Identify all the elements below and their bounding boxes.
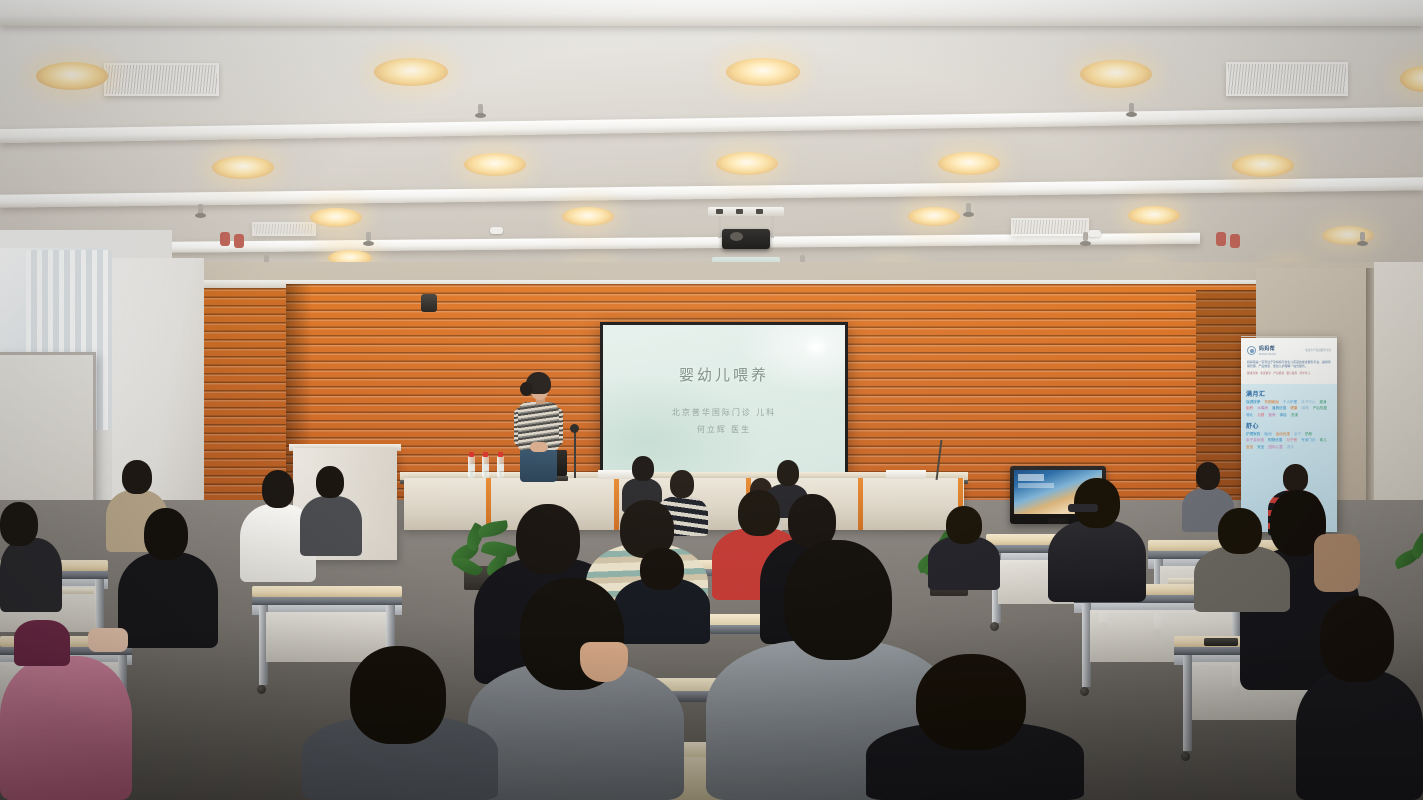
fire-sprinkler [198, 204, 203, 217]
banner-word: 亲子 [1294, 432, 1301, 436]
fire-sprinkler [366, 232, 371, 241]
hvac-vent [104, 63, 219, 96]
person-shoulder-scarf [1314, 534, 1360, 592]
wall-speaker [421, 294, 437, 312]
person-head [516, 504, 580, 574]
smoke-detector [1088, 230, 1101, 237]
banner-word: 产后恢复 [1313, 406, 1327, 410]
projector-bolt [756, 209, 763, 214]
person-body [1194, 546, 1290, 612]
track-spotlight [220, 228, 254, 246]
hvac-vent [1226, 62, 1348, 96]
banner-word-cloud: 保健按摩孕期瑜伽个人护理月子中心瘦身胎教水痗病道具优惠健康咖啡产后恢复哺乳月嫘营… [1246, 400, 1332, 417]
projection-screen: 婴幼儿喂养 北京普华国际门诊 儿科 何立辉 医生 [600, 322, 848, 476]
person-head [670, 470, 694, 498]
banner-word: 洗澡 [1291, 413, 1298, 417]
ceiling-downlight [908, 207, 960, 226]
person-body [300, 496, 362, 556]
banner-word: 月嫘 [1257, 413, 1264, 417]
desk-caster [257, 685, 266, 694]
banner-word-cloud: 护理家政胎动运动优惠亲子奶粉亲子游泳馆购物优惠月子餐专家门诊育儿宝宝安全国际儿童… [1246, 432, 1332, 449]
microphone-head [570, 424, 579, 433]
banner-word: 月子餐 [1286, 438, 1297, 442]
tablet-device [1204, 638, 1238, 646]
person-hands [580, 642, 628, 682]
banner-paragraph: 妈妈帮是一家专注于孕妈妈与新生儿家庭的健康服务平台，提供孕期管理、产后恢复、婴幼… [1247, 360, 1331, 369]
banner-header: 妈妈帮 MAMA BANG 专业孕产知识服务平台 妈妈帮是一家专注于孕妈妈与新生… [1241, 338, 1337, 384]
fire-sprinkler [1129, 103, 1134, 116]
fire-sprinkler [478, 104, 483, 117]
banner-word: 咖啡 [1302, 406, 1309, 410]
banner-word: 安全 [1257, 445, 1264, 449]
presenter-hair-bun [520, 382, 533, 396]
banner-word: 育儿 [1320, 438, 1327, 442]
person-head [316, 466, 344, 498]
person-head [0, 502, 38, 546]
person-head [350, 646, 446, 744]
person-shoulder [14, 620, 70, 666]
person-head [1218, 508, 1262, 554]
person-head [1074, 478, 1120, 528]
fire-sprinkler [1360, 232, 1365, 241]
ceiling-downlight [1080, 60, 1152, 88]
audience-member [1048, 478, 1146, 602]
banner-word: 月子中心 [1301, 400, 1315, 404]
person-head [122, 460, 152, 494]
banner-word: 道具优惠 [1272, 406, 1286, 410]
audience-member [1296, 596, 1423, 800]
banner-word: 运动优惠 [1276, 432, 1290, 436]
person-body [1048, 520, 1146, 602]
eyeglasses-icon [1068, 504, 1098, 512]
banner-word: 孕期瑜伽 [1264, 400, 1278, 404]
brand-logo-icon [1247, 346, 1256, 355]
audience-member [1194, 508, 1290, 612]
audience-member [468, 578, 684, 800]
person-head [1196, 462, 1220, 490]
projector-lens [730, 232, 743, 241]
audience-member [866, 654, 1084, 800]
projector-bolt [716, 209, 723, 214]
ceiling-downlight [562, 207, 614, 226]
water-bottle [497, 456, 504, 478]
ceiling-downlight [1232, 154, 1294, 177]
desk-caster [1181, 752, 1190, 761]
right-far-wall [1374, 262, 1423, 522]
person-head [1283, 464, 1308, 492]
projector-arm [771, 216, 774, 238]
banner-word: 营养 [1268, 413, 1275, 417]
ceiling-downlight [1400, 66, 1423, 92]
slide-subtitle-org: 北京普华国际门诊 儿科 [672, 407, 776, 418]
banner-word: 宝宝 [1246, 445, 1253, 449]
track-spotlight [1216, 228, 1250, 246]
ceiling-downlight [716, 152, 778, 175]
ceiling-downlight [726, 58, 800, 86]
banner-logo-block: 妈妈帮 MAMA BANG [1259, 345, 1277, 356]
audience-member [300, 466, 362, 556]
person-body [1296, 670, 1423, 800]
presenter-lower-body [520, 448, 557, 482]
banner-section: 舒心 护理家政胎动运动优惠亲子奶粉亲子游泳馆购物优惠月子餐专家门诊育儿宝宝安全国… [1246, 421, 1332, 449]
ceiling-beam [0, 177, 1423, 207]
projection-screen-surface: 婴幼儿喂养 北京普华国际门诊 儿科 何立辉 医生 [603, 325, 845, 473]
person-body [0, 656, 132, 800]
ceiling-beam [0, 107, 1423, 143]
audience-member [118, 508, 218, 648]
desk-caster [990, 622, 999, 631]
audience-member [0, 502, 62, 612]
banner-word: 护理家政 [1246, 432, 1260, 436]
projector-body [722, 229, 770, 249]
ceiling-downlight [212, 156, 274, 179]
hvac-vent [252, 222, 316, 236]
presenter-hands [530, 442, 548, 452]
banner-word: 国际儿童 [1268, 445, 1282, 449]
banner-word: 健康 [1290, 406, 1297, 410]
banner-section-title: 满月汇 [1246, 389, 1332, 398]
banner-word: 个人护理 [1283, 400, 1297, 404]
banner-word: 胎动 [1264, 432, 1271, 436]
person-hand [88, 628, 128, 652]
banner-word: 亲子游泳馆 [1246, 438, 1264, 442]
slide-title: 婴幼儿喂养 [679, 364, 769, 385]
banner-word: 购物优惠 [1268, 438, 1282, 442]
desk-top [252, 586, 402, 597]
person-body [118, 552, 218, 648]
ceiling [0, 0, 1423, 300]
person-head [262, 470, 294, 508]
audience-member [928, 506, 1000, 590]
monitor-badge [1018, 474, 1044, 481]
ceiling-downlight [938, 152, 1000, 175]
ceiling-downlight [374, 58, 448, 86]
desk-leg [1183, 655, 1192, 751]
banner-word: 游乐 [1287, 445, 1294, 449]
person-head [784, 540, 892, 660]
banner-section-title: 舒心 [1246, 421, 1332, 430]
water-bottle [468, 456, 475, 478]
banner-logo-text: 妈妈帮 [1259, 345, 1277, 352]
slide-subtitle-speaker: 何立辉 医生 [697, 424, 751, 435]
banner-word: 专家门诊 [1301, 438, 1315, 442]
person-body [928, 536, 1000, 590]
banner-word: 保健按摩 [1246, 400, 1260, 404]
person-head [632, 456, 654, 481]
audience-member [0, 600, 132, 800]
potted-plant [1394, 540, 1423, 592]
ceiling-downlight [1128, 206, 1180, 225]
projector-hotspot [803, 335, 829, 359]
photo-scene: 婴幼儿喂养 北京普华国际门诊 儿科 何立辉 医生 [0, 0, 1423, 800]
person-head [777, 460, 799, 486]
smoke-detector [490, 227, 503, 234]
name-plate [886, 470, 926, 479]
projector-bolt [736, 209, 743, 214]
person-head [916, 654, 1026, 750]
banner-paragraph-highlight: 健康咨询 · 专家讲堂 · 产后修复 · 婴儿喂养 · 科学育儿 [1247, 372, 1331, 376]
fire-sprinkler [966, 203, 971, 216]
ceiling-downlight [310, 208, 362, 227]
presenter [510, 372, 566, 484]
person-head [1320, 596, 1394, 682]
banner-word: 体检 [1280, 413, 1287, 417]
banner-logo-row: 妈妈帮 MAMA BANG 专业孕产知识服务平台 [1247, 345, 1331, 356]
ceiling-downlight [464, 153, 526, 176]
water-bottle [482, 456, 489, 478]
desk-edge [252, 597, 402, 605]
banner-word: 瘦身 [1320, 400, 1327, 404]
person-head [946, 506, 982, 544]
ceiling-beam [0, 0, 1423, 26]
banner-word: 奶粉 [1305, 432, 1312, 436]
banner-section: 满月汇 保健按摩孕期瑜伽个人护理月子中心瘦身胎教水痗病道具优惠健康咖啡产后恢复哺… [1246, 389, 1332, 417]
banner-rail [1241, 336, 1337, 337]
microphone-stand [574, 428, 576, 478]
banner-word: 哺乳 [1246, 413, 1253, 417]
projector-arm [718, 216, 721, 238]
audience-member [302, 646, 498, 800]
banner-tagline: 专业孕产知识服务平台 [1305, 348, 1331, 352]
banner-word: 水痗病 [1257, 406, 1268, 410]
banner-logo-subtext: MAMA BANG [1259, 353, 1277, 356]
hvac-vent [1011, 218, 1089, 236]
ceiling-downlight [36, 62, 108, 90]
person-head [144, 508, 188, 560]
banner-word: 胎教 [1246, 406, 1253, 410]
